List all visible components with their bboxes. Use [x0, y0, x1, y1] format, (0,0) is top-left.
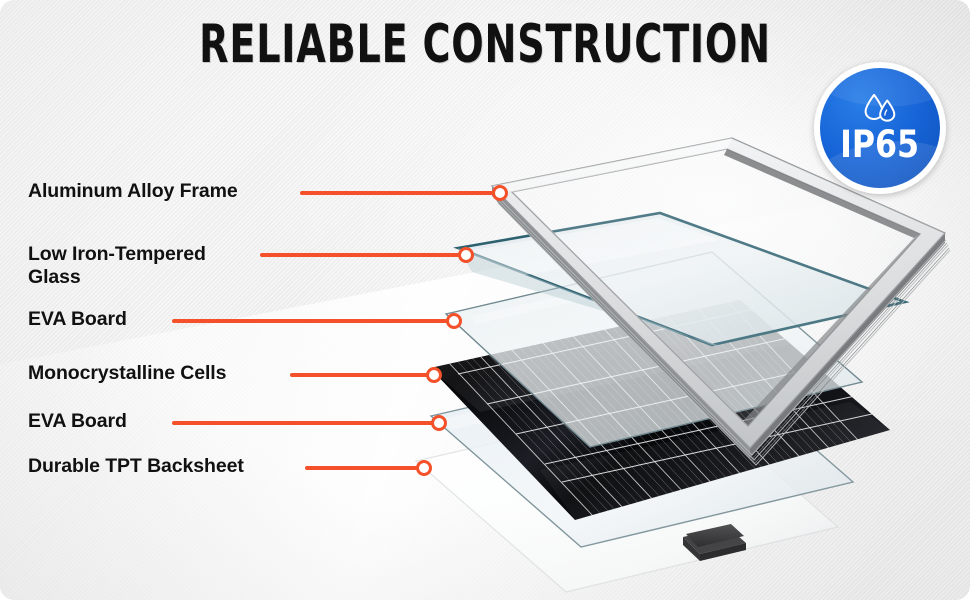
ip65-badge: IP65 [814, 62, 946, 194]
callout-label-low-iron-tempered-glass: Low Iron-Tempered Glass [28, 243, 206, 288]
ip65-badge-face: IP65 [820, 68, 940, 188]
callout-label-eva-board-top: EVA Board [28, 308, 127, 331]
page-title: RELIABLE CONSTRUCTION [97, 14, 873, 75]
callout-leader-eva-board-bottom [172, 421, 436, 425]
callout-leader-low-iron-tempered-glass [260, 253, 463, 257]
callout-node-eva-board-bottom [431, 415, 447, 431]
callout-node-durable-tpt-backsheet [416, 460, 432, 476]
callout-node-eva-board-top [446, 313, 462, 329]
water-drops-icon [859, 93, 900, 125]
callout-label-aluminum-alloy-frame: Aluminum Alloy Frame [28, 180, 238, 203]
callout-node-aluminum-alloy-frame [492, 185, 508, 201]
callout-label-durable-tpt-backsheet: Durable TPT Backsheet [28, 455, 244, 478]
callout-node-low-iron-tempered-glass [458, 247, 474, 263]
callout-node-monocrystalline-cells [426, 367, 442, 383]
callout-leader-durable-tpt-backsheet [305, 466, 421, 470]
callout-label-eva-board-bottom: EVA Board [28, 410, 127, 433]
callout-leader-monocrystalline-cells [290, 373, 431, 377]
infographic-canvas: RELIABLE CONSTRUCTION IP65 Aluminum Allo… [0, 0, 970, 600]
callout-leader-aluminum-alloy-frame [300, 191, 498, 195]
callout-leader-eva-board-top [172, 319, 451, 323]
callout-label-monocrystalline-cells: Monocrystalline Cells [28, 362, 226, 385]
ip65-rating-text: IP65 [841, 126, 920, 163]
